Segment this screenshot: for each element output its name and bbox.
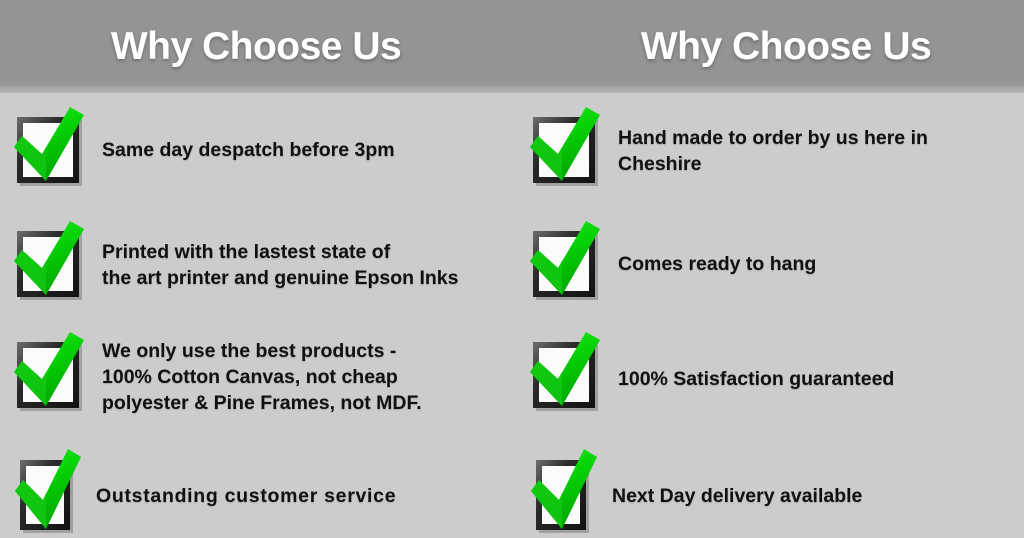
feature-label: Printed with the lastest state of the ar…: [102, 239, 458, 291]
green-checkmark-checkbox-icon: [528, 219, 608, 311]
green-checkmark-checkbox-icon: [528, 447, 602, 538]
header-band: Why Choose Us Why Choose Us: [0, 0, 1024, 93]
green-checkmark-checkbox-icon: [12, 219, 92, 311]
feature-label: Hand made to order by us here in Cheshir…: [618, 125, 928, 177]
feature-label: Next Day delivery available: [612, 483, 862, 509]
green-checkmark-checkbox-icon: [528, 105, 608, 197]
feature-label: We only use the best products - 100% Cot…: [102, 338, 422, 416]
feature-item: Next Day delivery available: [528, 447, 862, 538]
page-title-right: Why Choose Us: [641, 25, 931, 69]
green-checkmark-checkbox-icon: [528, 330, 608, 422]
feature-item: We only use the best products - 100% Cot…: [12, 330, 422, 422]
feature-item: Same day despatch before 3pm: [12, 105, 395, 197]
feature-label: 100% Satisfaction guaranteed: [618, 366, 894, 392]
feature-item: 100% Satisfaction guaranteed: [528, 330, 894, 422]
green-checkmark-checkbox-icon: [12, 330, 92, 422]
feature-label: Same day despatch before 3pm: [102, 137, 395, 163]
feature-item: Printed with the lastest state of the ar…: [12, 219, 458, 311]
feature-label: Outstanding customer service: [96, 483, 396, 509]
feature-column-right: Hand made to order by us here in Cheshir…: [512, 93, 1024, 538]
feature-label: Comes ready to hang: [618, 251, 816, 277]
feature-item: Hand made to order by us here in Cheshir…: [528, 105, 928, 197]
header-half-left: Why Choose Us: [0, 0, 512, 93]
why-choose-us-banner: Why Choose Us Why Choose Us: [0, 0, 1024, 538]
page-title-left: Why Choose Us: [111, 25, 401, 69]
feature-columns: Same day despatch before 3pm Printed wit…: [0, 93, 1024, 538]
green-checkmark-checkbox-icon: [12, 105, 92, 197]
green-checkmark-checkbox-icon: [12, 447, 86, 538]
feature-item: Outstanding customer service: [12, 447, 396, 538]
header-half-right: Why Choose Us: [512, 0, 1024, 93]
feature-item: Comes ready to hang: [528, 219, 816, 311]
feature-column-left: Same day despatch before 3pm Printed wit…: [0, 93, 512, 538]
